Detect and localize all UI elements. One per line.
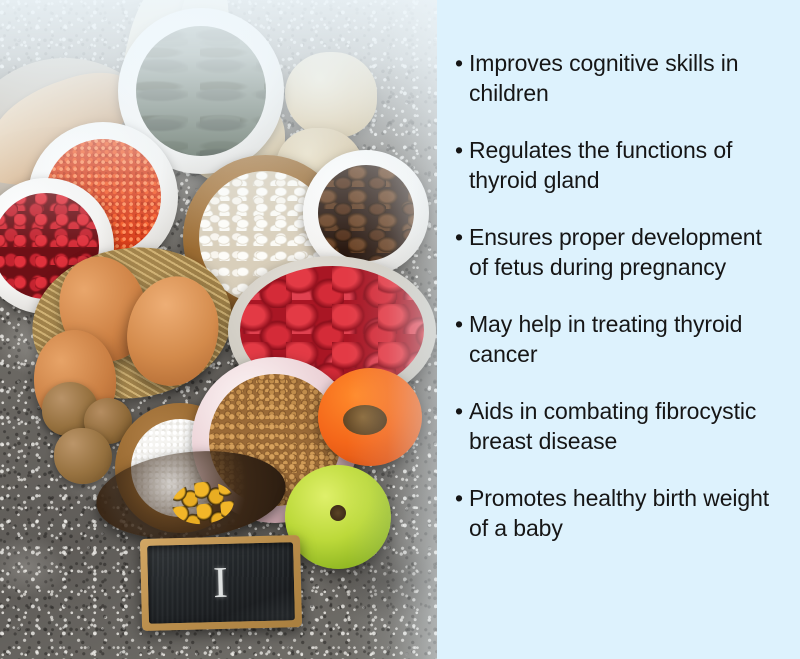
bullet-icon: • — [455, 309, 469, 339]
bullet-icon: • — [455, 135, 469, 165]
bullet-icon: • — [455, 396, 469, 426]
benefit-text: Promotes healthy birth weight of a baby — [469, 483, 786, 543]
benefit-item: • Promotes healthy birth weight of a bab… — [455, 483, 786, 543]
iodine-symbol-letter: I — [213, 561, 230, 605]
benefit-text: Ensures proper development of fetus duri… — [469, 222, 786, 282]
chalkboard-slate: I — [147, 542, 295, 624]
bullet-icon: • — [455, 483, 469, 513]
iodine-benefits-infographic: I • Improves cognitive skills in childre… — [0, 0, 800, 659]
benefit-item: • May help in treating thyroid cancer — [455, 309, 786, 369]
bullet-icon: • — [455, 48, 469, 78]
benefit-text: Improves cognitive skills in children — [469, 48, 786, 108]
benefit-text: Aids in combating fibrocystic breast dis… — [469, 396, 786, 456]
iodine-foods-photo: I — [0, 0, 437, 659]
green-apple-stem — [330, 505, 346, 521]
bullet-icon: • — [455, 222, 469, 252]
benefit-item: • Ensures proper development of fetus du… — [455, 222, 786, 282]
benefit-text: Regulates the functions of thyroid gland — [469, 135, 786, 195]
seaweed-kelp — [136, 26, 266, 156]
benefit-item: • Regulates the functions of thyroid gla… — [455, 135, 786, 195]
prunes — [318, 165, 414, 261]
potatoes — [285, 52, 377, 138]
benefit-item: • Aids in combating fibrocystic breast d… — [455, 396, 786, 456]
walnuts — [54, 428, 112, 484]
benefit-item: • Improves cognitive skills in children — [455, 48, 786, 108]
persimmon-calyx — [343, 405, 387, 435]
benefits-list-panel: • Improves cognitive skills in children … — [437, 0, 800, 659]
iodine-chalkboard: I — [140, 535, 302, 631]
benefit-text: May help in treating thyroid cancer — [469, 309, 786, 369]
